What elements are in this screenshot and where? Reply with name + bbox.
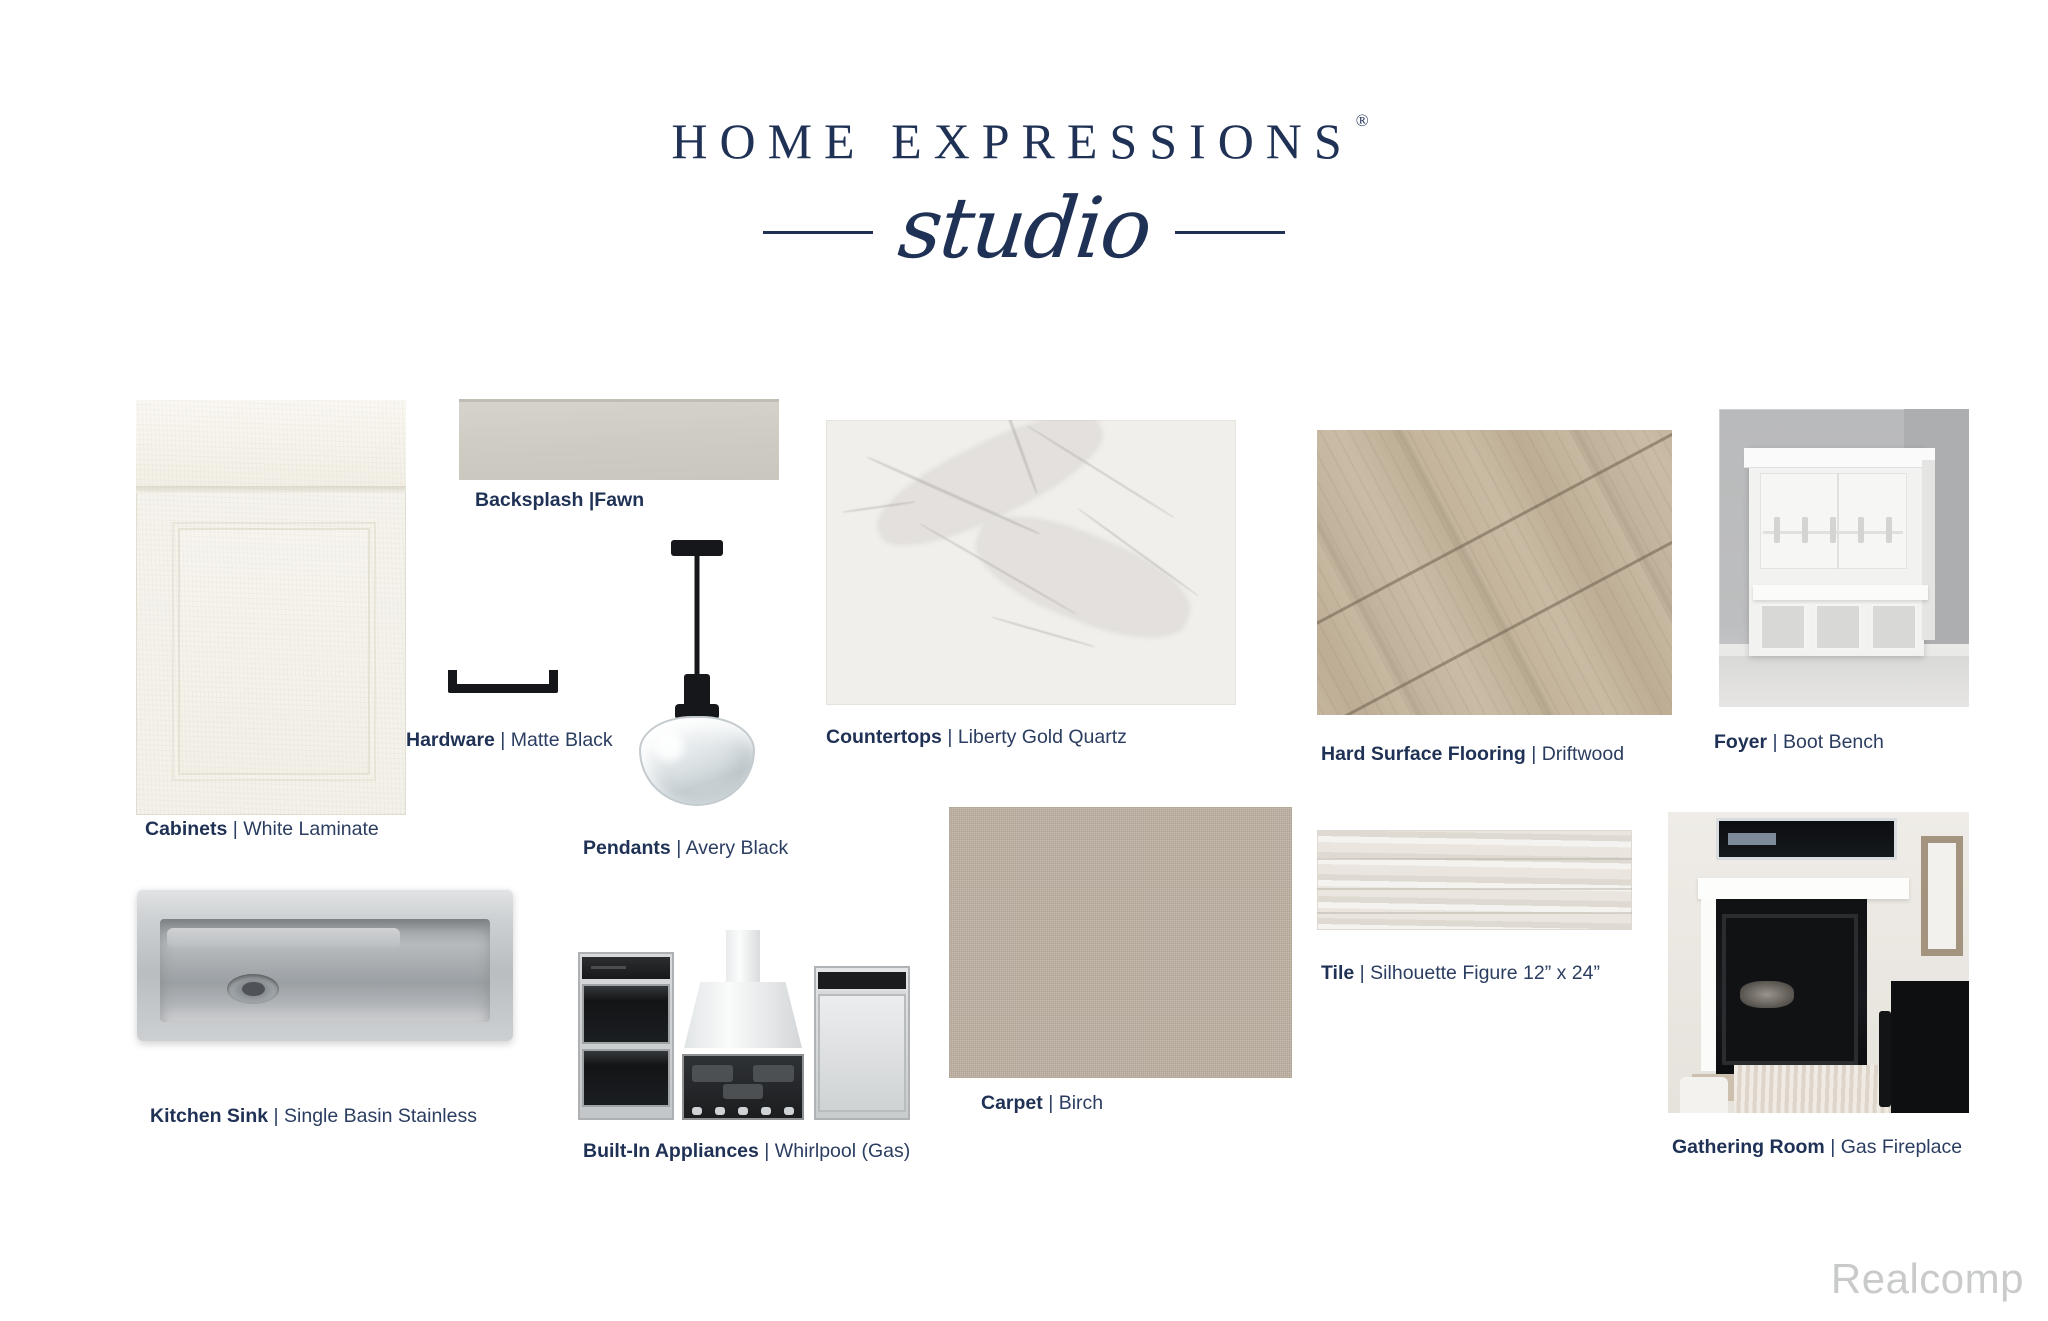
sep-tile: |	[1360, 962, 1365, 984]
cabinets-sample-image	[136, 400, 406, 815]
hardware-pull-image	[448, 670, 558, 698]
tile-band-3	[1317, 912, 1632, 914]
bench-side-panel	[1922, 460, 1934, 639]
pendant-canopy	[671, 540, 723, 556]
coat-hook-icon	[1858, 517, 1864, 543]
caption-built-in-appliances: Built-In Appliances | Whirlpool (Gas)	[583, 1140, 910, 1163]
burner-grate	[692, 1065, 733, 1082]
label-tile: Tile	[1321, 962, 1354, 984]
side-table	[1891, 981, 1969, 1113]
logo-rule-left	[763, 231, 873, 234]
gathering-room-fireplace-image	[1668, 812, 1969, 1113]
value-kitchen-sink: Single Basin Stainless	[284, 1105, 477, 1127]
sep-hard-surface-flooring: |	[1531, 743, 1536, 765]
design-selection-board: HOME EXPRESSIONS® studio Cabinets | Whit…	[0, 0, 2048, 1321]
sep-carpet: |	[1048, 1092, 1053, 1114]
sink-drain	[227, 974, 279, 1004]
caption-hard-surface-flooring: Hard Surface Flooring | Driftwood	[1321, 743, 1624, 766]
bench-cubbies	[1760, 604, 1918, 650]
built-in-appliances-image	[578, 930, 928, 1120]
brand-logo: HOME EXPRESSIONS® studio	[0, 116, 2048, 292]
pendant-cord	[695, 556, 700, 674]
sep-kitchen-sink: |	[274, 1105, 279, 1127]
dishwasher	[814, 966, 910, 1120]
hard-surface-flooring-sample-image	[1317, 430, 1672, 715]
sep-cabinets: |	[233, 818, 238, 840]
range-hood	[684, 930, 802, 1048]
sep-foyer: |	[1773, 731, 1778, 753]
label-backsplash: Backsplash	[475, 489, 583, 511]
bench-crown-molding	[1744, 448, 1935, 468]
wall-mirror	[1921, 836, 1963, 956]
backsplash-sample-swatch	[459, 399, 779, 480]
value-countertops: Liberty Gold Quartz	[958, 726, 1127, 748]
burner-grate	[723, 1084, 762, 1099]
cooktop-knobs	[692, 1106, 795, 1117]
burner-grate	[753, 1065, 794, 1082]
sep-built-in-appliances: |	[764, 1140, 769, 1162]
caption-tile: Tile | Silhouette Figure 12” x 24”	[1321, 962, 1600, 985]
foyer-bench-unit	[1749, 448, 1924, 657]
label-gathering-room: Gathering Room	[1672, 1136, 1825, 1158]
bench-seat	[1753, 585, 1928, 600]
cabinet-texture	[136, 400, 406, 815]
pull-leg-right	[549, 670, 558, 688]
brand-script-row: studio	[0, 172, 2048, 292]
mantel-leg-left	[1701, 899, 1716, 1071]
cooktop-knob	[692, 1107, 702, 1115]
oven-door-lower	[582, 1049, 670, 1106]
bench-cubby	[1760, 604, 1806, 650]
quartz-vein-soft-2	[962, 495, 1203, 659]
carpet-sample-swatch	[949, 807, 1292, 1078]
value-hardware: Matte Black	[511, 729, 613, 751]
realcomp-watermark: Realcomp	[1831, 1255, 2024, 1303]
value-pendants: Avery Black	[686, 837, 789, 859]
value-tile: Silhouette Figure 12” x 24”	[1370, 962, 1600, 984]
label-foyer: Foyer	[1714, 731, 1767, 753]
pendant-light-image	[632, 540, 762, 820]
label-carpet: Carpet	[981, 1092, 1043, 1114]
coat-hook-icon	[1802, 517, 1808, 543]
coat-hook-icon	[1774, 517, 1780, 543]
label-countertops: Countertops	[826, 726, 942, 748]
value-backsplash: Fawn	[594, 489, 644, 511]
caption-gathering-room: Gathering Room | Gas Fireplace	[1672, 1136, 1962, 1159]
tile-sample-image	[1317, 830, 1632, 930]
caption-pendants: Pendants | Avery Black	[583, 837, 788, 860]
label-kitchen-sink: Kitchen Sink	[150, 1105, 268, 1127]
caption-foyer: Foyer | Boot Bench	[1714, 731, 1884, 754]
bench-cubby	[1871, 604, 1917, 650]
tile-band-2	[1317, 888, 1632, 890]
sep-hardware: |	[500, 729, 505, 751]
sink-body	[137, 889, 513, 1041]
sep-countertops: |	[947, 726, 952, 748]
sep-gathering-room: |	[1830, 1136, 1835, 1158]
caption-cabinets: Cabinets | White Laminate	[145, 818, 379, 841]
coat-hook-icon	[1886, 517, 1892, 543]
pull-bar	[448, 684, 558, 693]
brand-script-word: studio	[895, 186, 1154, 270]
oven-door-upper	[582, 984, 670, 1044]
gas-logs	[1740, 981, 1794, 1008]
label-cabinets: Cabinets	[145, 818, 227, 840]
caption-carpet: Carpet | Birch	[981, 1092, 1103, 1115]
coat-hook-icon	[1830, 517, 1836, 543]
value-foyer: Boot Bench	[1783, 731, 1884, 753]
foyer-floor	[1719, 656, 1969, 707]
cooktop-knob	[738, 1107, 748, 1115]
oven-control-panel	[582, 957, 670, 979]
value-built-in-appliances: Whirlpool (Gas)	[775, 1140, 910, 1162]
caption-backsplash: Backsplash |Fawn	[475, 489, 644, 512]
value-gathering-room: Gas Fireplace	[1841, 1136, 1962, 1158]
tv-glare	[1728, 833, 1776, 845]
foyer-boot-bench-image	[1719, 409, 1969, 707]
label-built-in-appliances: Built-In Appliances	[583, 1140, 759, 1162]
tile-band-1	[1317, 858, 1632, 860]
logo-rule-right	[1175, 231, 1285, 234]
sink-highlight	[167, 928, 400, 949]
label-pendants: Pendants	[583, 837, 671, 859]
label-hardware: Hardware	[406, 729, 495, 751]
value-hard-surface-flooring: Driftwood	[1542, 743, 1624, 765]
value-carpet: Birch	[1059, 1092, 1103, 1114]
pendant-socket	[684, 674, 710, 708]
dishwasher-door	[818, 994, 906, 1113]
kitchen-sink-image	[125, 874, 525, 1059]
value-cabinets: White Laminate	[243, 818, 378, 840]
hood-canopy	[684, 982, 802, 1048]
hood-chimney	[726, 930, 759, 984]
bench-panel-divider	[1837, 473, 1839, 569]
table-leg	[1879, 1011, 1891, 1107]
cooktop-knob	[761, 1107, 771, 1115]
registered-mark: ®	[1356, 111, 1369, 130]
caption-hardware: Hardware | Matte Black	[406, 729, 613, 752]
wood-grain	[1317, 430, 1672, 715]
pendant-glass-shade	[639, 716, 755, 806]
dishwasher-control-panel	[818, 972, 906, 989]
gas-cooktop	[682, 1054, 804, 1120]
brand-title: HOME EXPRESSIONS®	[671, 116, 1376, 166]
cooktop-knob	[715, 1107, 725, 1115]
countertops-sample-image	[826, 420, 1236, 705]
sep-pendants: |	[676, 837, 681, 859]
caption-kitchen-sink: Kitchen Sink | Single Basin Stainless	[150, 1105, 477, 1128]
cooktop-knob	[784, 1107, 794, 1115]
caption-countertops: Countertops | Liberty Gold Quartz	[826, 726, 1127, 749]
sofa-arm	[1680, 1077, 1728, 1113]
wall-oven	[578, 952, 674, 1120]
label-hard-surface-flooring: Hard Surface Flooring	[1321, 743, 1526, 765]
fireplace-mantel	[1698, 878, 1909, 899]
bench-cubby	[1815, 604, 1861, 650]
